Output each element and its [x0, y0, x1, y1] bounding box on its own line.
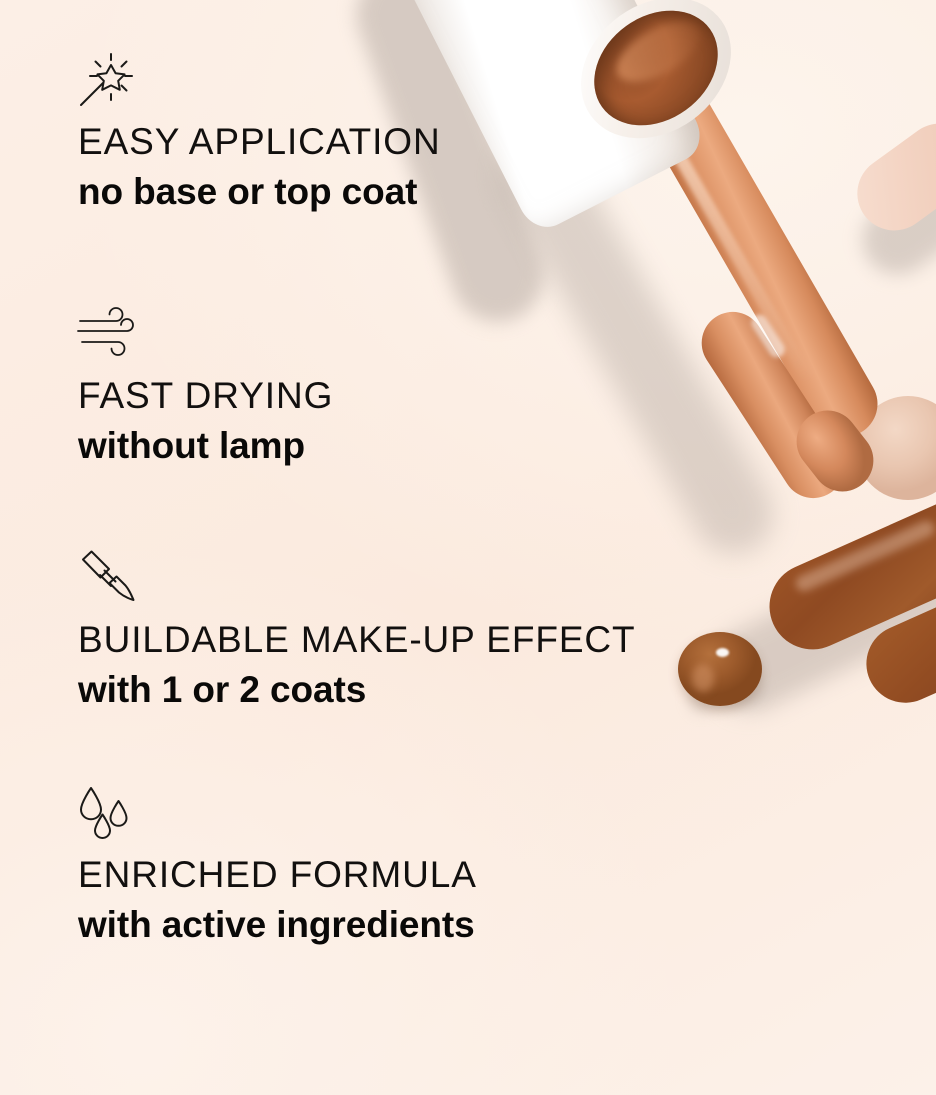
feature-subline: with 1 or 2 coats: [78, 669, 636, 710]
cap-mouth-gloss: [607, 10, 709, 94]
feature-headline: BUILDABLE MAKE-UP EFFECT: [78, 620, 636, 661]
brown-polish-stroke-lower: [854, 571, 936, 715]
brown-stroke-shadow: [696, 533, 936, 725]
feature-item-buildable-effect: BUILDABLE MAKE-UP EFFECT with 1 or 2 coa…: [78, 550, 636, 710]
brown-stroke-gloss: [793, 518, 936, 594]
water-drops-icon: [78, 785, 477, 839]
feature-item-enriched-formula: ENRICHED FORMULA with active ingredients: [78, 785, 477, 945]
stream-highlight: [653, 117, 814, 383]
cap-mouth: [578, 0, 733, 147]
nude-swatch-shadow: [849, 162, 936, 288]
feature-headline: ENRICHED FORMULA: [78, 855, 477, 896]
feature-subline: without lamp: [78, 425, 333, 466]
caramel-polish-stream: [632, 70, 889, 449]
nail-brush-icon: [78, 550, 636, 604]
feature-subline: no base or top coat: [78, 171, 441, 212]
polish-droplet: [678, 632, 762, 706]
feature-item-fast-drying: FAST DRYING without lamp: [78, 306, 333, 466]
magic-wand-icon: [78, 52, 441, 106]
caramel-polish-stream-lower: [690, 300, 856, 510]
cap-rim: [562, 0, 751, 164]
droplet-highlight: [716, 648, 729, 657]
feature-subline: with active ingredients: [78, 904, 477, 945]
droplet-soft-highlight: [692, 664, 714, 692]
white-bottle-cap: [399, 0, 710, 236]
stream-tip: [784, 398, 886, 504]
stream-shadow: [484, 121, 788, 568]
nude-polish-swatch: [843, 109, 936, 245]
brown-polish-stroke: [756, 479, 936, 663]
nude-polish-round: [856, 396, 936, 500]
droplet-shadow: [686, 674, 766, 715]
product-feature-poster: EASY APPLICATION no base or top coat FAS…: [0, 0, 936, 1095]
stream-gloss: [748, 312, 788, 361]
feature-headline: EASY APPLICATION: [78, 122, 441, 163]
feature-item-easy-application: EASY APPLICATION no base or top coat: [78, 52, 441, 212]
feature-headline: FAST DRYING: [78, 376, 333, 417]
wind-icon: [78, 306, 333, 360]
